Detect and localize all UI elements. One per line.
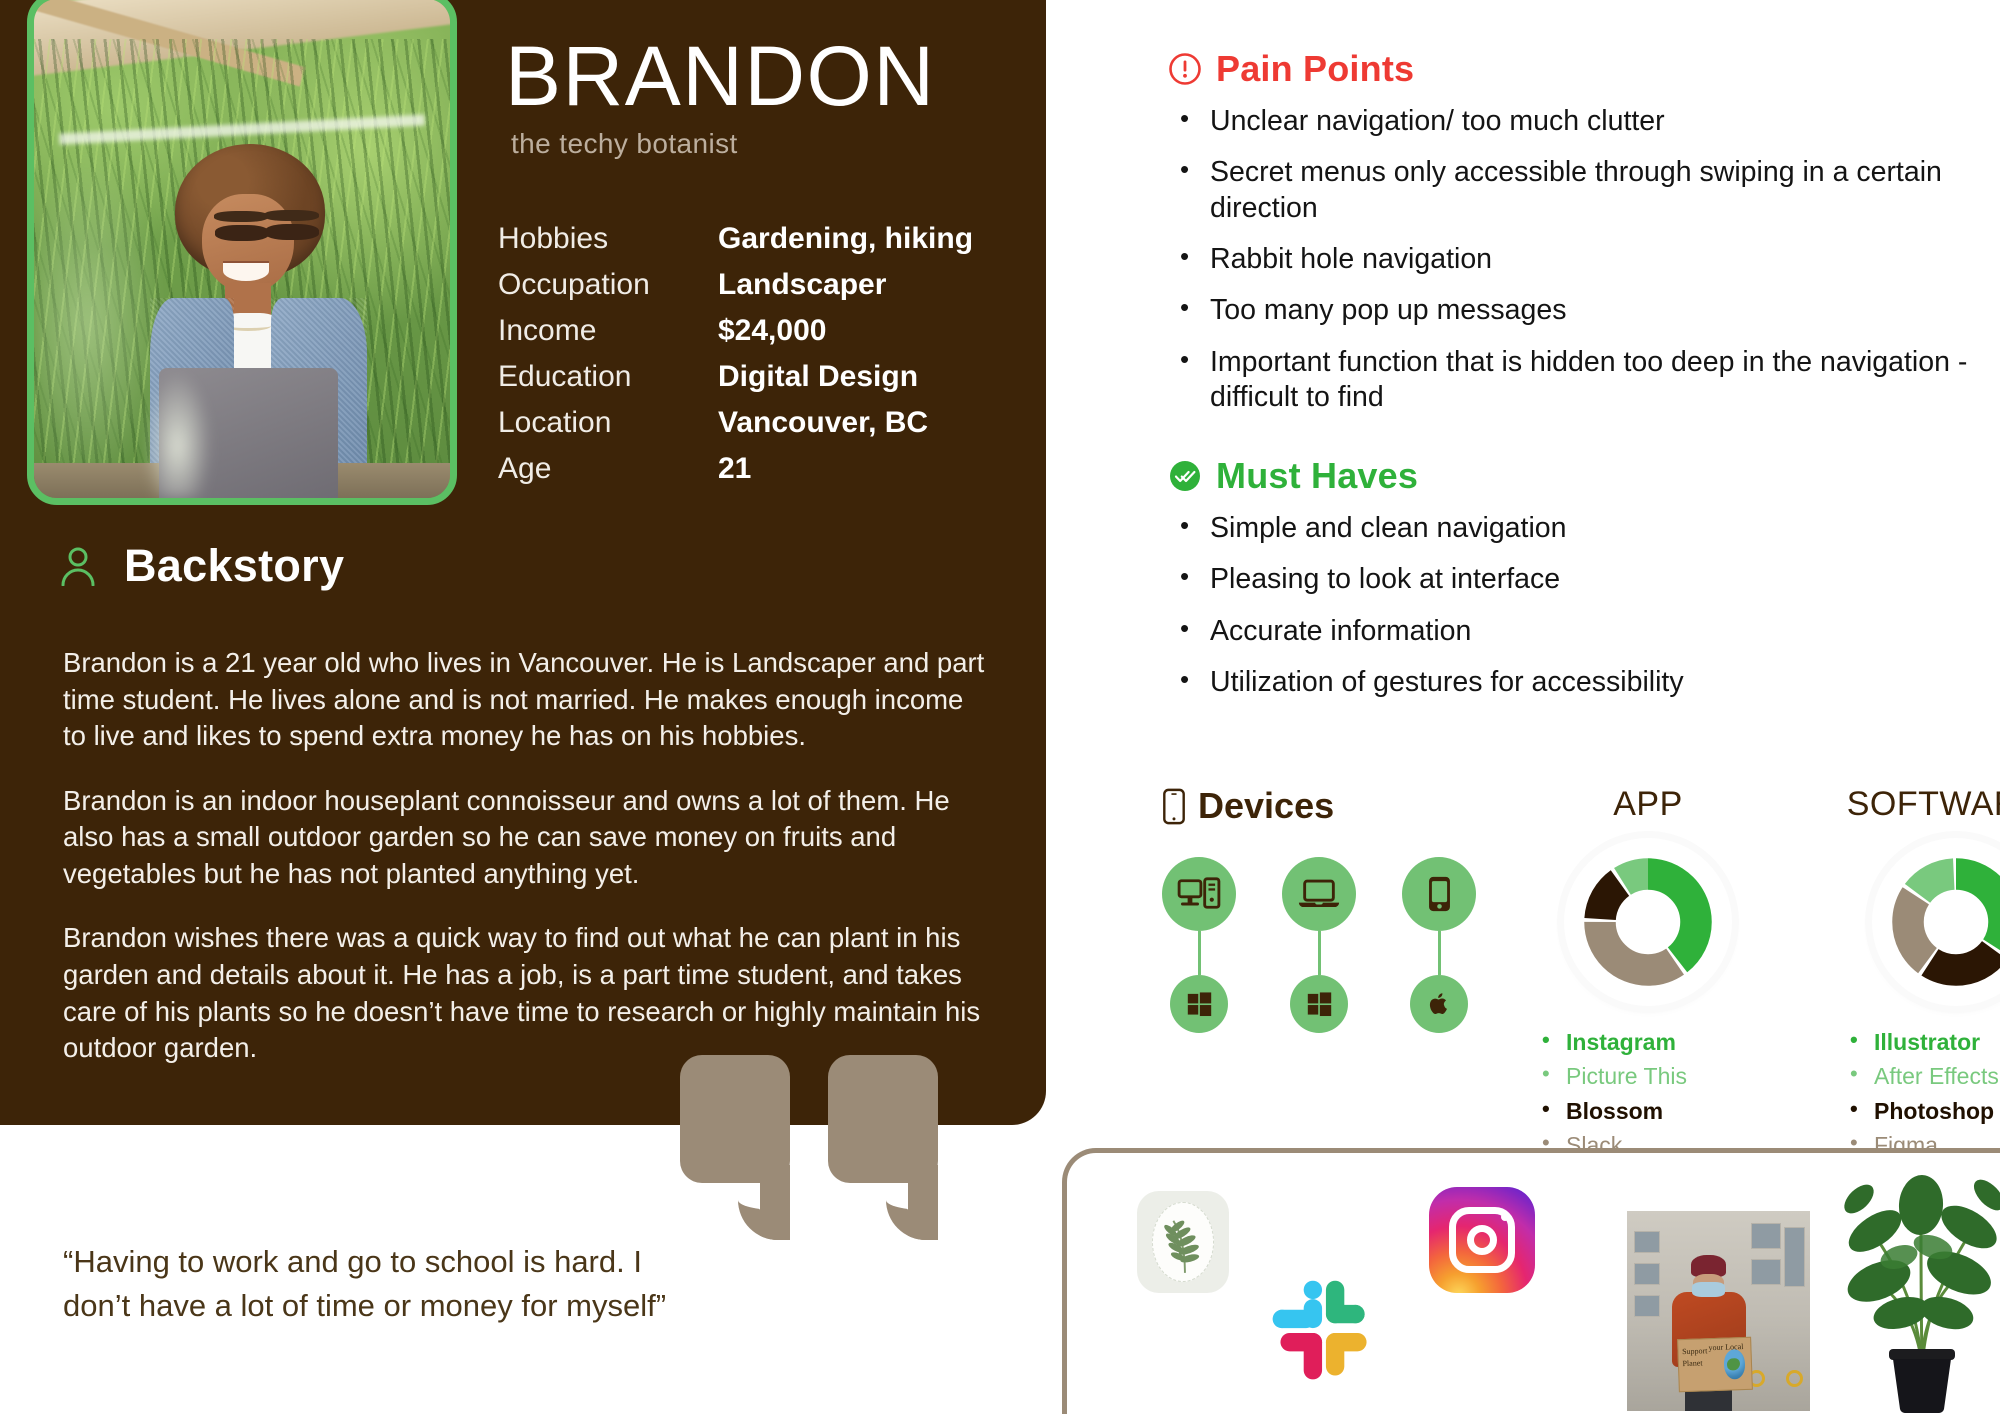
detail-value: $24,000: [718, 314, 826, 348]
persona-tagline: the techy botanist: [511, 128, 936, 160]
list-item: Pleasing to look at interface: [1168, 562, 1968, 597]
chart-title: SOFTWARES: [1847, 785, 2000, 824]
detail-value: Gardening, hiking: [718, 222, 973, 256]
persona-photo: [27, 0, 457, 505]
backstory-paragraph: Brandon wishes there was a quick way to …: [63, 920, 993, 1066]
table-row: Education Digital Design: [498, 360, 973, 406]
detail-label: Occupation: [498, 268, 718, 302]
chart-legend-softwares: Illustrator After Effects Photoshop Figm…: [1836, 1028, 1999, 1166]
must-haves-title: Must Haves: [1216, 455, 1418, 497]
list-item: Simple and clean navigation: [1168, 511, 1968, 546]
legend-item: After Effects: [1850, 1062, 1999, 1091]
detail-value: Landscaper: [718, 268, 886, 302]
pain-points-header: Pain Points: [1168, 48, 1968, 90]
list-item: Secret menus only accessible through swi…: [1168, 155, 1968, 226]
check-circle-icon: [1168, 459, 1202, 493]
windows-logo-icon: [1170, 975, 1228, 1033]
chart-app: APP Instagram Picture This: [1528, 785, 1768, 1166]
backstory-body: Brandon is a 21 year old who lives in Va…: [63, 645, 993, 1095]
usage-charts: APP Instagram Picture This: [1528, 785, 2000, 1166]
windows-logo-icon: [1290, 975, 1348, 1033]
detail-value: 21: [718, 452, 751, 486]
legend-item: Instagram: [1542, 1028, 1687, 1057]
slack-logo-icon: [1265, 1273, 1383, 1391]
potted-monstera-photo: [1837, 1161, 2000, 1413]
must-haves-section: Must Haves Simple and clean navigation P…: [1168, 455, 1968, 716]
protest-photo: Support Planet your Local: [1627, 1211, 1810, 1411]
list-item: Rabbit hole navigation: [1168, 242, 1968, 277]
devices-header: Devices: [1162, 785, 1476, 827]
backstory-paragraph: Brandon is a 21 year old who lives in Va…: [63, 645, 993, 755]
backstory-paragraph: Brandon is an indoor houseplant connoiss…: [63, 783, 993, 893]
inspiration-panel: Support Planet your Local: [1062, 1148, 2000, 1414]
exclamation-circle-icon: [1168, 52, 1202, 86]
donut-chart-app: [1564, 838, 1732, 1006]
device-group-laptop: [1282, 857, 1356, 1033]
person-icon: [60, 546, 96, 586]
detail-label: Age: [498, 452, 718, 486]
backstory-title: Backstory: [124, 540, 344, 592]
detail-label: Education: [498, 360, 718, 394]
pain-points-list: Unclear navigation/ too much clutter Sec…: [1168, 104, 1968, 415]
detail-value: Vancouver, BC: [718, 406, 928, 440]
plant-app-icon: [1137, 1191, 1229, 1293]
device-group-desktop: [1162, 857, 1236, 1033]
mobile-phone-icon: [1162, 788, 1186, 825]
persona-poster: BRANDON the techy botanist Hobbies Garde…: [0, 0, 2000, 1414]
laptop-icon: [1282, 857, 1356, 931]
smartphone-icon: [1402, 857, 1476, 931]
table-row: Hobbies Gardening, hiking: [498, 222, 973, 268]
list-item: Important function that is hidden too de…: [1168, 345, 1968, 416]
list-item: Utilization of gestures for accessibilit…: [1168, 665, 1968, 700]
list-item: Unclear navigation/ too much clutter: [1168, 104, 1968, 139]
detail-label: Income: [498, 314, 718, 348]
quotation-mark-icon: [680, 1055, 948, 1240]
pain-points-section: Pain Points Unclear navigation/ too much…: [1168, 48, 1968, 431]
apple-logo-icon: [1410, 975, 1468, 1033]
table-row: Age 21: [498, 452, 973, 498]
devices-section: Devices: [1162, 785, 1476, 1033]
must-haves-header: Must Haves: [1168, 455, 1968, 497]
persona-quote: “Having to work and go to school is hard…: [63, 1240, 703, 1328]
donut-chart-softwares: [1872, 838, 2000, 1006]
chart-legend-app: Instagram Picture This Blossom Slack: [1528, 1028, 1687, 1166]
table-row: Income $24,000: [498, 314, 973, 360]
table-row: Location Vancouver, BC: [498, 406, 973, 452]
legend-item: Photoshop: [1850, 1097, 1999, 1126]
legend-item: Blossom: [1542, 1097, 1687, 1126]
desktop-computer-icon: [1162, 857, 1236, 931]
backstory-header: Backstory: [60, 540, 344, 592]
persona-details-table: Hobbies Gardening, hiking Occupation Lan…: [498, 222, 973, 498]
table-row: Occupation Landscaper: [498, 268, 973, 314]
devices-grid: [1162, 857, 1476, 1033]
pain-points-title: Pain Points: [1216, 48, 1414, 90]
protest-sign-text: Support Planet: [1682, 1345, 1708, 1370]
chart-title: APP: [1613, 785, 1683, 824]
detail-label: Location: [498, 406, 718, 440]
list-item: Too many pop up messages: [1168, 293, 1968, 328]
devices-title: Devices: [1198, 785, 1334, 827]
detail-label: Hobbies: [498, 222, 718, 256]
must-haves-list: Simple and clean navigation Pleasing to …: [1168, 511, 1968, 700]
instagram-logo-icon: [1429, 1187, 1535, 1293]
page-title: BRANDON: [505, 34, 936, 118]
legend-item: Picture This: [1542, 1062, 1687, 1091]
persona-name-block: BRANDON the techy botanist: [505, 34, 936, 160]
list-item: Accurate information: [1168, 614, 1968, 649]
detail-value: Digital Design: [718, 360, 918, 394]
device-group-smartphone: [1402, 857, 1476, 1033]
chart-softwares: SOFTWARES Illustrator After Effe: [1836, 785, 2000, 1166]
legend-item: Illustrator: [1850, 1028, 1999, 1057]
